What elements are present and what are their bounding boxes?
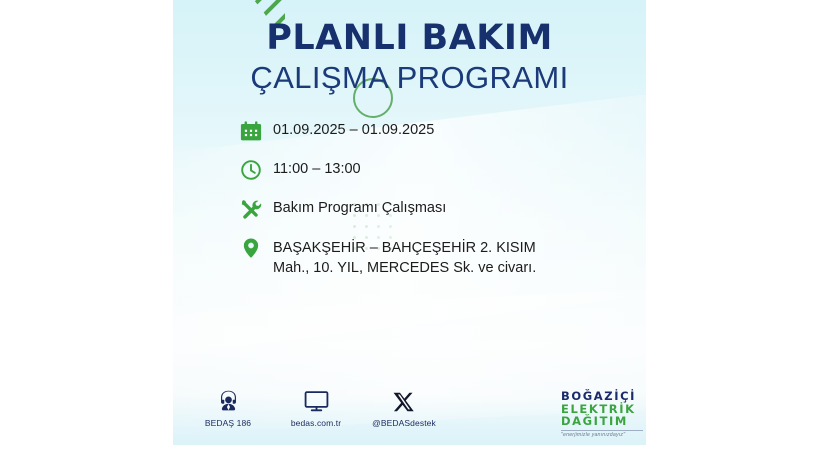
contact-website[interactable]: bedas.com.tr	[283, 388, 349, 428]
detail-row-time: 11:00 – 13:00	[238, 157, 618, 183]
call-center-agent-icon	[217, 388, 240, 415]
brand-line-dagitim: DAĞITIM	[561, 415, 643, 428]
page-title: PLANLI BAKIM	[173, 18, 646, 58]
planned-maintenance-poster: PLANLI BAKIM ÇALIŞMA PROGRAMI	[173, 0, 646, 445]
x-twitter-icon	[393, 388, 415, 415]
clock-icon	[238, 157, 264, 183]
detail-row-location: BAŞAKŞEHİR – BAHÇEŞEHİR 2. KISIM Mah., 1…	[238, 235, 618, 278]
detail-row-worktype: Bakım Programı Çalışması	[238, 196, 618, 222]
detail-row-date: 01.09.2025 – 01.09.2025	[238, 118, 618, 144]
monitor-icon	[304, 388, 329, 415]
screenshot-canvas: PLANLI BAKIM ÇALIŞMA PROGRAMI	[0, 0, 820, 461]
contact-call-center[interactable]: BEDAŞ 186	[195, 388, 261, 428]
maintenance-details-list: 01.09.2025 – 01.09.2025 11:00 – 13:00	[238, 118, 618, 278]
x-account-label: @BEDASdestek	[372, 418, 436, 428]
tools-icon	[238, 196, 264, 222]
date-range-text: 01.09.2025 – 01.09.2025	[273, 118, 434, 140]
location-pin-icon	[238, 235, 264, 261]
poster-footer: BEDAŞ 186 bedas.com.tr	[173, 388, 646, 445]
address-text: BAŞAKŞEHİR – BAHÇEŞEHİR 2. KISIM Mah., 1…	[273, 235, 536, 278]
page-subtitle: ÇALIŞMA PROGRAMI	[173, 60, 646, 96]
work-type-text: Bakım Programı Çalışması	[273, 196, 446, 218]
footer-contact-links: BEDAŞ 186 bedas.com.tr	[195, 388, 437, 428]
poster-title-block: PLANLI BAKIM ÇALIŞMA PROGRAMI	[173, 18, 646, 96]
contact-x-account[interactable]: @BEDASdestek	[371, 388, 437, 428]
call-center-label: BEDAŞ 186	[205, 418, 251, 428]
time-range-text: 11:00 – 13:00	[273, 157, 361, 179]
calendar-icon	[238, 118, 264, 144]
brand-tagline: "enerjimizle yanınızdayız"	[561, 430, 643, 438]
bedas-logo: BOĞAZİÇİ ELEKTRİK DAĞITIM "enerjimizle y…	[561, 390, 643, 438]
website-label: bedas.com.tr	[291, 418, 341, 428]
brand-line-bogazici: BOĞAZİÇİ	[561, 390, 643, 403]
